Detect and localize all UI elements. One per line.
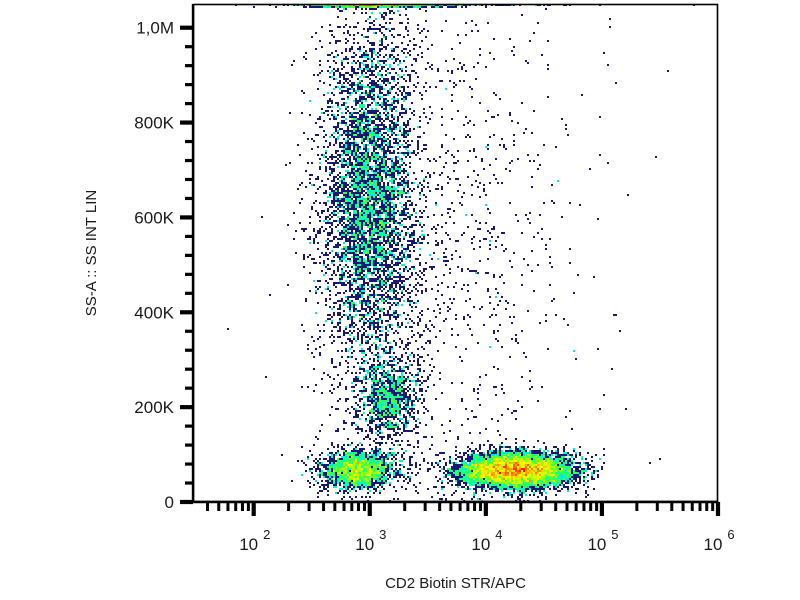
x-tick-label: 105 [587, 527, 618, 554]
y-axis: 0200K400K600K800K1,0M [134, 4, 193, 512]
y-tick-label: 0 [165, 493, 174, 512]
x-tick-label: 104 [471, 527, 502, 554]
flow-cytometry-plot: 0200K400K600K800K1,0MSS-A :: SS INT LIN1… [0, 0, 800, 600]
y-tick-label: 400K [134, 303, 174, 322]
y-tick-label: 600K [134, 208, 174, 227]
dot-cloud [227, 4, 695, 502]
y-tick-label: 1,0M [136, 19, 174, 38]
y-tick-label: 800K [134, 114, 174, 133]
y-tick-label: 200K [134, 398, 174, 417]
x-tick-label: 102 [239, 527, 270, 554]
x-axis: 102103104105106 [193, 502, 735, 554]
plot-border [194, 5, 718, 502]
x-axis-title: CD2 Biotin STR/APC [385, 575, 526, 592]
x-tick-label: 106 [704, 527, 735, 554]
x-tick-label: 103 [355, 527, 386, 554]
y-axis-title: SS-A :: SS INT LIN [83, 190, 100, 316]
